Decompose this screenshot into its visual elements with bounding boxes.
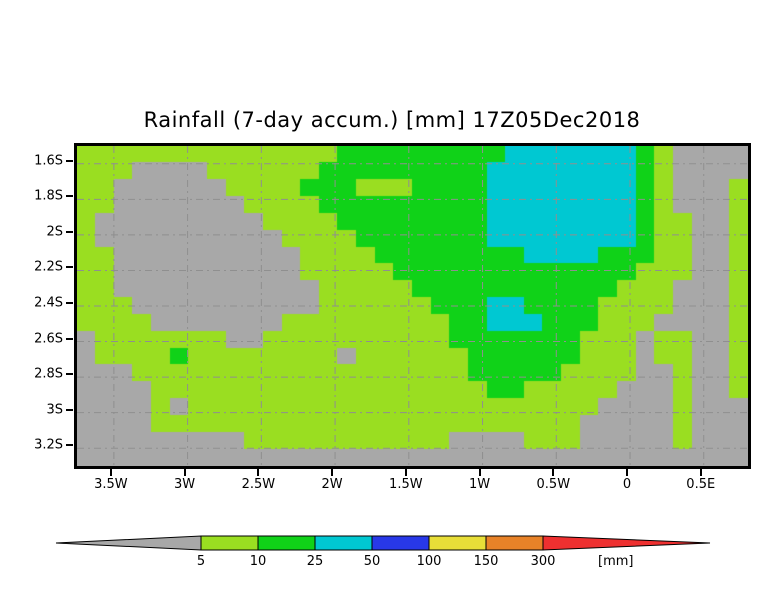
y-axis-tick-label: 1.6S: [34, 153, 63, 168]
y-axis-tick-mark: [66, 409, 73, 411]
y-axis-tick-mark: [66, 266, 73, 268]
colorbar-segment: [486, 536, 543, 550]
chart-page: Rainfall (7-day accum.) [mm] 17Z05Dec201…: [0, 0, 784, 612]
y-axis-tick-label: 2.2S: [34, 260, 63, 275]
colorbar-tick-label: 100: [417, 554, 442, 569]
y-axis-tick-label: 2.8S: [34, 367, 63, 382]
x-axis-tick-mark: [552, 469, 554, 476]
x-axis-tick-label: 3.5W: [94, 477, 128, 492]
colorbar-tick-label: 25: [307, 554, 324, 569]
page-title: Rainfall (7-day accum.) [mm] 17Z05Dec201…: [0, 108, 784, 132]
colorbar-units-label: [mm]: [598, 554, 633, 569]
y-axis-tick-label: 2.4S: [34, 296, 63, 311]
colorbar: [mm] 5102550100150300: [0, 528, 784, 588]
y-axis-tick-label: 3.2S: [34, 438, 63, 453]
y-axis-tick-label: 2S: [46, 224, 63, 239]
x-axis-tick-label: 2W: [322, 477, 343, 492]
y-axis-tick-mark: [66, 231, 73, 233]
rainfall-heatmap: [77, 146, 748, 466]
x-axis-tick-mark: [331, 469, 333, 476]
colorbar-tick-label: 5: [197, 554, 205, 569]
colorbar-swatches: [0, 528, 784, 558]
y-axis-tick-mark: [66, 444, 73, 446]
x-axis-tick-mark: [700, 469, 702, 476]
y-axis-tick-label: 1.8S: [34, 189, 63, 204]
plot-area: [74, 143, 751, 469]
colorbar-tick-label: 150: [474, 554, 499, 569]
x-axis-tick-label: 0.5W: [537, 477, 571, 492]
y-axis-tick-label: 3S: [46, 402, 63, 417]
y-axis-tick-label: 2.6S: [34, 331, 63, 346]
y-axis-tick-mark: [66, 160, 73, 162]
colorbar-under-range: [56, 536, 201, 550]
colorbar-segment: [201, 536, 258, 550]
colorbar-segment: [258, 536, 315, 550]
x-axis-tick-mark: [626, 469, 628, 476]
x-axis-tick-label: 2.5W: [242, 477, 276, 492]
x-axis-tick-mark: [405, 469, 407, 476]
colorbar-segment: [315, 536, 372, 550]
x-axis-tick-mark: [184, 469, 186, 476]
colorbar-tick-label: 50: [364, 554, 381, 569]
colorbar-tick-label: 300: [531, 554, 556, 569]
x-axis-tick-mark: [257, 469, 259, 476]
y-axis-tick-mark: [66, 373, 73, 375]
x-axis-tick-label: 1.5W: [389, 477, 423, 492]
x-axis-tick-mark: [479, 469, 481, 476]
x-axis-tick-label: 1W: [469, 477, 490, 492]
colorbar-over-range: [543, 536, 710, 550]
y-axis-tick-mark: [66, 195, 73, 197]
x-axis-tick-label: 0.5E: [686, 477, 715, 492]
y-axis-tick-mark: [66, 338, 73, 340]
colorbar-segment: [372, 536, 429, 550]
x-axis-tick-label: 3W: [174, 477, 195, 492]
y-axis-tick-mark: [66, 302, 73, 304]
x-axis-tick-mark: [110, 469, 112, 476]
x-axis-tick-label: 0: [623, 477, 631, 492]
colorbar-tick-label: 10: [250, 554, 267, 569]
colorbar-segment: [429, 536, 486, 550]
